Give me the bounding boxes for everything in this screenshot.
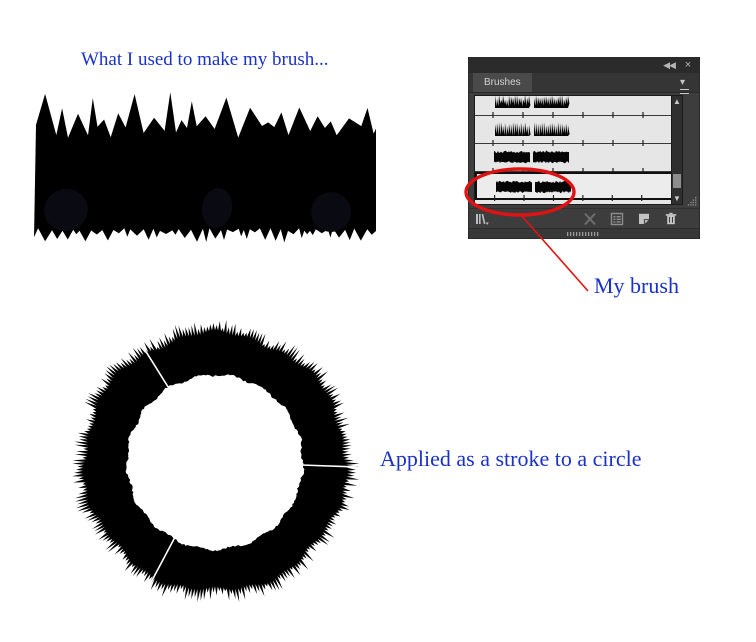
delete-brush-icon[interactable]: [662, 211, 680, 227]
scroll-up-arrow[interactable]: ▲: [672, 96, 682, 107]
applied-stroke-caption: Applied as a stroke to a circle: [380, 448, 641, 470]
brush-preset-list[interactable]: [474, 95, 679, 205]
my-brush-caption: My brush: [594, 275, 679, 297]
panel-toolbar: [469, 208, 699, 229]
brush-preset-1[interactable]: [475, 96, 678, 116]
panel-grip-dots: [567, 232, 601, 236]
brush-thumbnail: [493, 119, 571, 139]
ring-stroke-artwork: [62, 312, 368, 612]
brushes-panel[interactable]: ◀◀ × Brushes ▾ ▲ ▼: [468, 57, 700, 239]
brush-thumbnail: [493, 95, 571, 112]
new-brush-icon[interactable]: [635, 211, 653, 227]
panel-tab-bar: Brushes ▾: [469, 73, 699, 93]
panel-resize-grip[interactable]: [687, 197, 697, 207]
scroll-down-arrow[interactable]: ▼: [672, 193, 682, 204]
brush-source-caption: What I used to make my brush...: [81, 50, 328, 69]
panel-drag-grip[interactable]: [469, 228, 699, 238]
brush-source-texture: [34, 82, 376, 245]
brush-preset-3[interactable]: [475, 144, 678, 172]
panel-menu-caret: ▾: [680, 77, 685, 88]
brush-options-icon[interactable]: [608, 211, 626, 227]
panel-menu-icon[interactable]: ▾: [680, 77, 694, 88]
panel-menu-bars: [680, 89, 689, 94]
brush-presets-library-icon[interactable]: [473, 211, 491, 227]
scrollbar-thumb[interactable]: [673, 174, 681, 188]
brush-list-scrollbar[interactable]: ▲ ▼: [671, 95, 683, 205]
remove-brush-icon: [581, 211, 599, 227]
collapse-panel-icon[interactable]: ◀◀: [663, 60, 675, 71]
brush-thumbnail: [495, 177, 573, 197]
brush-row-ticks: [477, 195, 676, 201]
close-icon[interactable]: ×: [682, 59, 694, 71]
brush-thumbnail: [493, 147, 571, 167]
brush-preset-2[interactable]: [475, 116, 678, 144]
panel-titlebar[interactable]: ◀◀ ×: [469, 58, 699, 73]
brush-preset-4[interactable]: [475, 172, 678, 200]
tab-brushes[interactable]: Brushes: [473, 73, 532, 92]
